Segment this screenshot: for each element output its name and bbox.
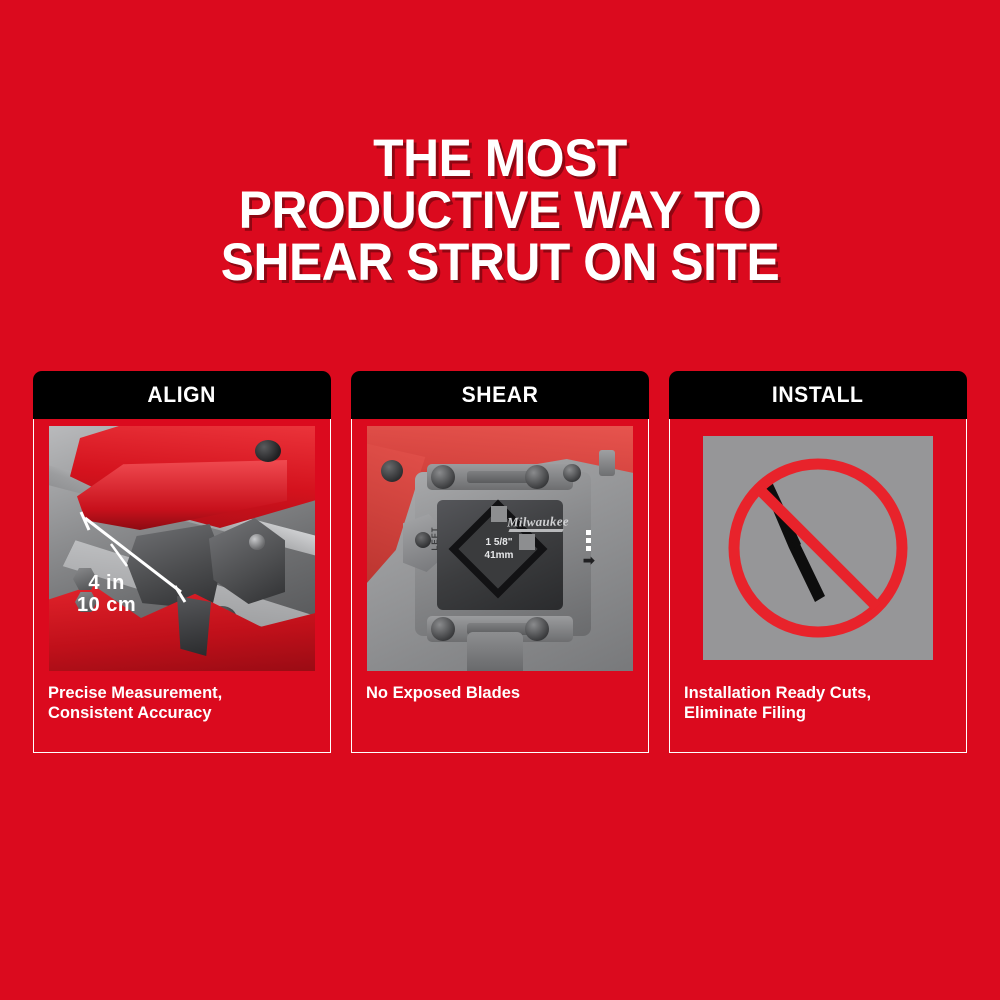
- no-filing-photo: [685, 426, 951, 671]
- arrow-right-icon: ➡: [583, 552, 595, 569]
- caption-line-2: Eliminate Filing: [684, 703, 959, 723]
- caption-line-2: Consistent Accuracy: [48, 703, 323, 723]
- headline-line-1: THE MOST: [30, 133, 970, 185]
- card-install: INSTALL Installation Ready: [669, 371, 967, 753]
- card-align-header: ALIGN: [33, 371, 331, 419]
- headline-line-2: PRODUCTIVE WAY TO: [30, 185, 970, 237]
- measurement-metric: 10 cm: [77, 594, 136, 616]
- no-filing-icon: [703, 436, 933, 660]
- card-shear: SHEAR: [351, 371, 649, 753]
- page-title: THE MOST PRODUCTIVE WAY TO SHEAR STRUT O…: [30, 133, 970, 289]
- hex-screw-icon: [431, 617, 455, 641]
- prohibition-sign-icon: [734, 464, 902, 632]
- milwaukee-logo-underline: [508, 529, 563, 532]
- indicator-dots-icon: [586, 530, 598, 552]
- infographic-root: THE MOST PRODUCTIVE WAY TO SHEAR STRUT O…: [0, 0, 1000, 1000]
- tool-handle: [467, 632, 523, 671]
- die-size-imperial: 1 5/8": [471, 536, 527, 549]
- card-install-caption: Installation Ready Cuts, Eliminate Filin…: [684, 683, 959, 723]
- align-photo: 4 in 10 cm: [49, 426, 315, 671]
- tool-knob-icon: [381, 460, 403, 482]
- dimension-line-icon: [49, 426, 315, 671]
- caption-line-1: Installation Ready Cuts,: [684, 683, 959, 703]
- hex-screw-icon: [525, 465, 549, 489]
- headline-line-3: SHEAR STRUT ON SITE: [30, 237, 970, 289]
- card-install-header: INSTALL: [669, 371, 967, 419]
- card-align: ALIGN: [33, 371, 331, 753]
- card-shear-title: SHEAR: [462, 382, 539, 408]
- card-align-caption: Precise Measurement, Consistent Accuracy: [48, 683, 323, 723]
- die-notch: [491, 506, 507, 522]
- card-shear-caption: No Exposed Blades: [366, 683, 641, 703]
- measurement-callout: 4 in 10 cm: [77, 572, 136, 616]
- feature-cards: ALIGN: [33, 371, 967, 753]
- die-size-label: 1 5/8" 41mm: [471, 536, 527, 562]
- card-shear-header: SHEAR: [351, 371, 649, 419]
- caption-line-1: Precise Measurement,: [48, 683, 323, 703]
- hex-screw-icon: [431, 465, 455, 489]
- card-install-title: INSTALL: [772, 382, 864, 408]
- hex-screw-icon: [563, 464, 581, 482]
- caption-line-1: No Exposed Blades: [366, 683, 641, 703]
- lug-hole: [415, 532, 431, 548]
- measurement-inches: 4 in: [77, 572, 136, 594]
- hex-screw-icon: [525, 617, 549, 641]
- shear-head-photo: Milwaukee 1 5/8" 41mm LEFT ➡: [367, 426, 633, 671]
- milwaukee-logo: Milwaukee: [507, 513, 569, 530]
- left-side-label: LEFT: [431, 527, 440, 551]
- card-align-title: ALIGN: [148, 382, 217, 408]
- metal-tab: [599, 450, 615, 476]
- die-size-metric: 41mm: [471, 549, 527, 562]
